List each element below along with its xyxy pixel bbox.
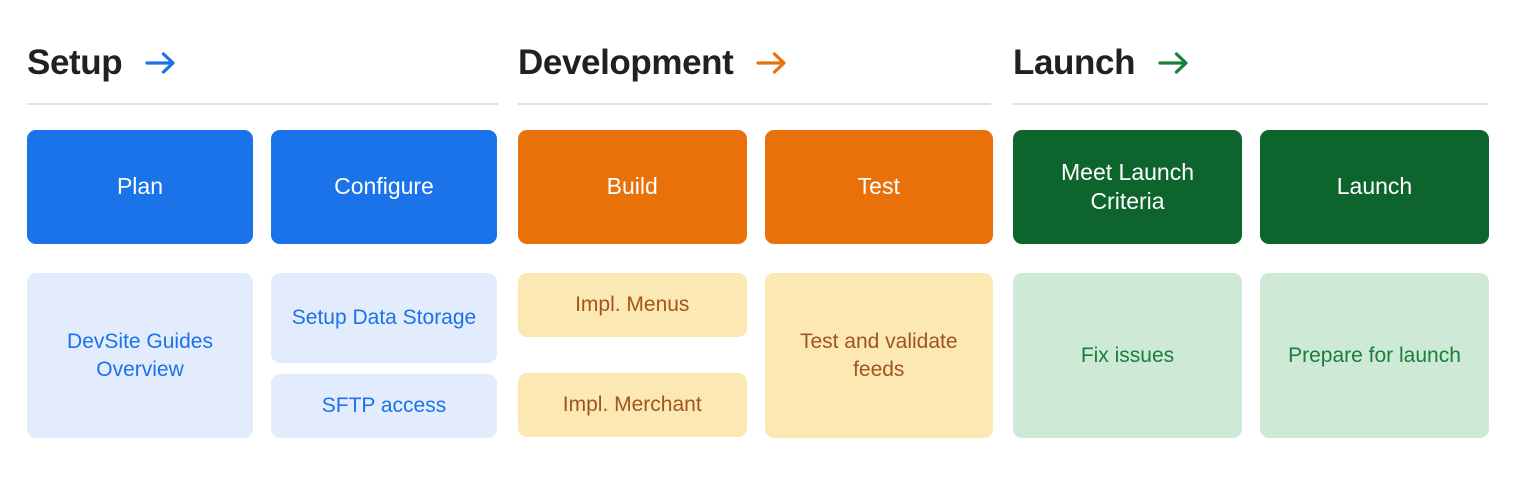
step-column-plan: Plan DevSite Guides Overview [27, 130, 253, 438]
phase-column-development: Development Build Impl. Menus Impl. Merc… [498, 0, 993, 484]
step-card-build[interactable]: Build [518, 130, 747, 244]
phase-title-setup: Setup [27, 43, 122, 83]
substep-card[interactable]: Fix issues [1013, 273, 1242, 438]
arrow-right-icon [144, 50, 178, 76]
substep-list-test: Test and validate feeds [765, 244, 994, 438]
arrow-right-icon [1157, 50, 1191, 76]
substep-list-configure: Setup Data Storage SFTP access [271, 244, 497, 438]
step-column-build: Build Impl. Menus Impl. Merchant [518, 130, 747, 438]
phase-steps-launch: Meet Launch Criteria Fix issues Launch P… [1013, 105, 1518, 438]
substep-list-plan: DevSite Guides Overview [27, 244, 253, 438]
substep-list-build: Impl. Menus Impl. Merchant [518, 244, 747, 437]
substep-card[interactable]: Prepare for launch [1260, 273, 1489, 438]
step-card-meet-launch-criteria[interactable]: Meet Launch Criteria [1013, 130, 1242, 244]
phase-steps-development: Build Impl. Menus Impl. Merchant Test Te… [518, 105, 993, 438]
phase-column-launch: Launch Meet Launch Criteria Fix issues L… [993, 0, 1518, 484]
step-column-meet-launch-criteria: Meet Launch Criteria Fix issues [1013, 130, 1242, 438]
substep-card[interactable]: DevSite Guides Overview [27, 273, 253, 438]
phase-steps-setup: Plan DevSite Guides Overview Configure S… [27, 105, 498, 438]
substep-card[interactable]: Impl. Merchant [518, 373, 747, 437]
substep-card[interactable]: Test and validate feeds [765, 273, 994, 438]
arrow-right-icon [755, 50, 789, 76]
phase-header-setup: Setup [27, 0, 498, 103]
phase-header-development: Development [518, 0, 993, 103]
step-column-launch: Launch Prepare for launch [1260, 130, 1489, 438]
substep-list-launch: Prepare for launch [1260, 244, 1489, 438]
phase-header-launch: Launch [1013, 0, 1518, 103]
phase-column-setup: Setup Plan DevSite Guides Overview Confi… [0, 0, 498, 484]
step-card-configure[interactable]: Configure [271, 130, 497, 244]
substep-card[interactable]: SFTP access [271, 374, 497, 438]
substep-card[interactable]: Impl. Menus [518, 273, 747, 337]
step-card-test[interactable]: Test [765, 130, 994, 244]
step-card-launch[interactable]: Launch [1260, 130, 1489, 244]
step-column-test: Test Test and validate feeds [765, 130, 994, 438]
phase-title-launch: Launch [1013, 43, 1135, 83]
phase-title-development: Development [518, 43, 733, 83]
substep-list-meet-launch-criteria: Fix issues [1013, 244, 1242, 438]
substep-card[interactable]: Setup Data Storage [271, 273, 497, 363]
step-column-configure: Configure Setup Data Storage SFTP access [271, 130, 497, 438]
roadmap-board: Setup Plan DevSite Guides Overview Confi… [0, 0, 1518, 484]
step-card-plan[interactable]: Plan [27, 130, 253, 244]
